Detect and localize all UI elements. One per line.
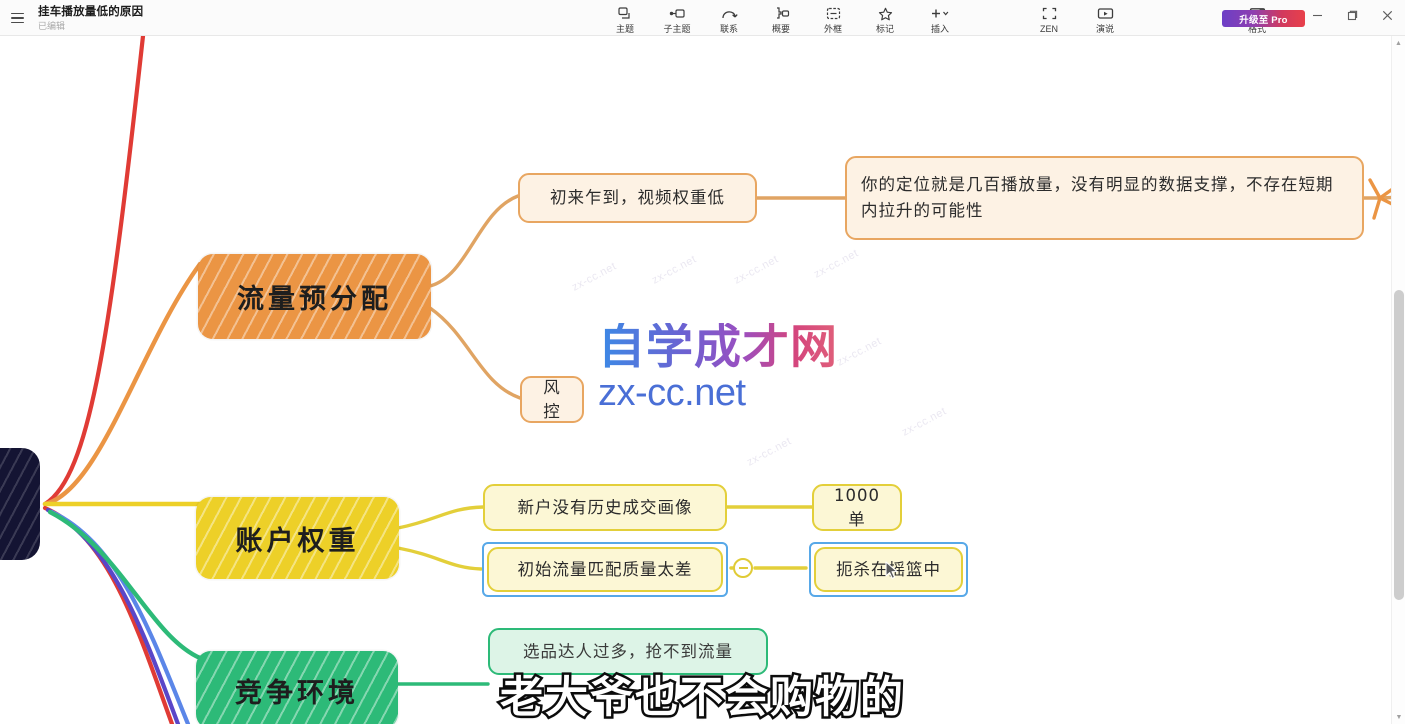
leaf-node-killed-in-cradle[interactable]: 扼杀在摇篮中 (814, 547, 963, 592)
toolbar-button-subtopic[interactable]: 子主题 (660, 3, 694, 34)
leaf-node-too-many-creators[interactable]: 选品达人过多，抢不到流量 (488, 628, 768, 675)
star-marker-icon (878, 6, 893, 21)
toolbar-label: 演说 (1096, 24, 1114, 34)
node-label: 竞争环境 (235, 671, 359, 710)
toolbar-button-marker[interactable]: 标记 (868, 3, 902, 34)
node-label: 初始流量匹配质量太差 (518, 558, 693, 582)
toolbar-label: 概要 (772, 24, 790, 34)
node-label: 1000单 (828, 484, 886, 532)
plus-insert-icon (930, 6, 950, 21)
document-status: 已编辑 (38, 20, 143, 32)
minus-icon (739, 567, 748, 569)
center-toolbar: 主题 子主题 联系 概要 (608, 3, 960, 34)
leaf-node-new-low-weight[interactable]: 初来乍到，视频权重低 (518, 173, 757, 223)
topic-icon (618, 6, 633, 21)
zen-fullscreen-icon (1042, 6, 1057, 21)
sketch-texture (0, 448, 40, 560)
document-info: 挂车播放量低的原因 已编辑 (38, 0, 143, 32)
presentation-play-icon (1097, 6, 1114, 21)
toolbar-button-topic[interactable]: 主题 (608, 3, 642, 34)
branch-node-competition[interactable]: 竞争环境 (196, 651, 398, 724)
leaf-node-positioning-detail[interactable]: 你的定位就是几百播放量，没有明显的数据支撑，不存在短期内拉升的可能性 (845, 156, 1364, 240)
node-label: 新户没有历史成交画像 (518, 496, 693, 520)
toolbar-label: 联系 (720, 24, 738, 34)
node-label: 账户权重 (236, 519, 360, 558)
hamburger-menu-icon[interactable] (0, 0, 34, 36)
page-title: 挂车播放量低的原因 (38, 5, 143, 19)
branch-connectors (0, 36, 1405, 724)
scroll-down-icon[interactable]: ▼ (1392, 710, 1405, 724)
maximize-icon[interactable] (1335, 0, 1370, 30)
toolbar-button-summary[interactable]: 概要 (764, 3, 798, 34)
node-label: 扼杀在摇篮中 (836, 558, 941, 582)
node-label: 选品达人过多，抢不到流量 (523, 640, 733, 664)
leaf-node-poor-initial-match[interactable]: 初始流量匹配质量太差 (487, 547, 723, 592)
toolbar-button-presentation[interactable]: 演说 (1088, 3, 1122, 34)
close-icon[interactable] (1370, 0, 1405, 30)
relation-arc-icon (721, 6, 738, 21)
minimize-icon[interactable] (1300, 0, 1335, 30)
root-node[interactable] (0, 448, 40, 560)
toolbar-label: 子主题 (663, 24, 690, 34)
leaf-node-risk-control[interactable]: 风控 (520, 376, 584, 423)
toolbar-button-zen[interactable]: ZEN (1032, 3, 1066, 34)
leaf-node-1000-orders[interactable]: 1000单 (812, 484, 902, 531)
toolbar-button-boundary[interactable]: 外框 (816, 3, 850, 34)
toolbar-label: ZEN (1040, 24, 1058, 34)
toolbar-label: 标记 (876, 24, 894, 34)
scrollbar-thumb[interactable] (1394, 290, 1404, 600)
window-controls (1300, 0, 1405, 30)
summary-bracket-icon (773, 6, 790, 21)
subtopic-icon (669, 6, 686, 21)
branch-node-traffic-preallocation[interactable]: 流量预分配 (198, 254, 431, 339)
mindmap-application: 挂车播放量低的原因 已编辑 主题 子主题 联系 (0, 0, 1405, 724)
title-bar: 挂车播放量低的原因 已编辑 主题 子主题 联系 (0, 0, 1405, 36)
toolbar-label: 外框 (824, 24, 842, 34)
boundary-frame-icon (826, 6, 841, 21)
node-label: 流量预分配 (237, 277, 392, 316)
collapse-toggle-button[interactable] (733, 558, 753, 578)
node-label: 初来乍到，视频权重低 (550, 186, 725, 210)
vertical-scrollbar[interactable]: ▲ ▼ (1391, 36, 1405, 724)
leaf-node-no-history-profile[interactable]: 新户没有历史成交画像 (483, 484, 727, 531)
scroll-up-icon[interactable]: ▲ (1392, 36, 1405, 50)
toolbar-label: 主题 (616, 24, 634, 34)
mindmap-canvas[interactable]: zx-cc.net zx-cc.net zx-cc.net zx-cc.net … (0, 36, 1405, 724)
toolbar-label: 插入 (931, 24, 949, 34)
upgrade-pro-button[interactable]: 升级至 Pro (1222, 10, 1305, 27)
toolbar-button-insert[interactable]: 插入 (920, 3, 960, 34)
toolbar-button-relation[interactable]: 联系 (712, 3, 746, 34)
branch-node-account-weight[interactable]: 账户权重 (196, 497, 399, 579)
node-label: 你的定位就是几百播放量，没有明显的数据支撑，不存在短期内拉升的可能性 (861, 172, 1348, 224)
node-label: 风控 (536, 376, 568, 424)
